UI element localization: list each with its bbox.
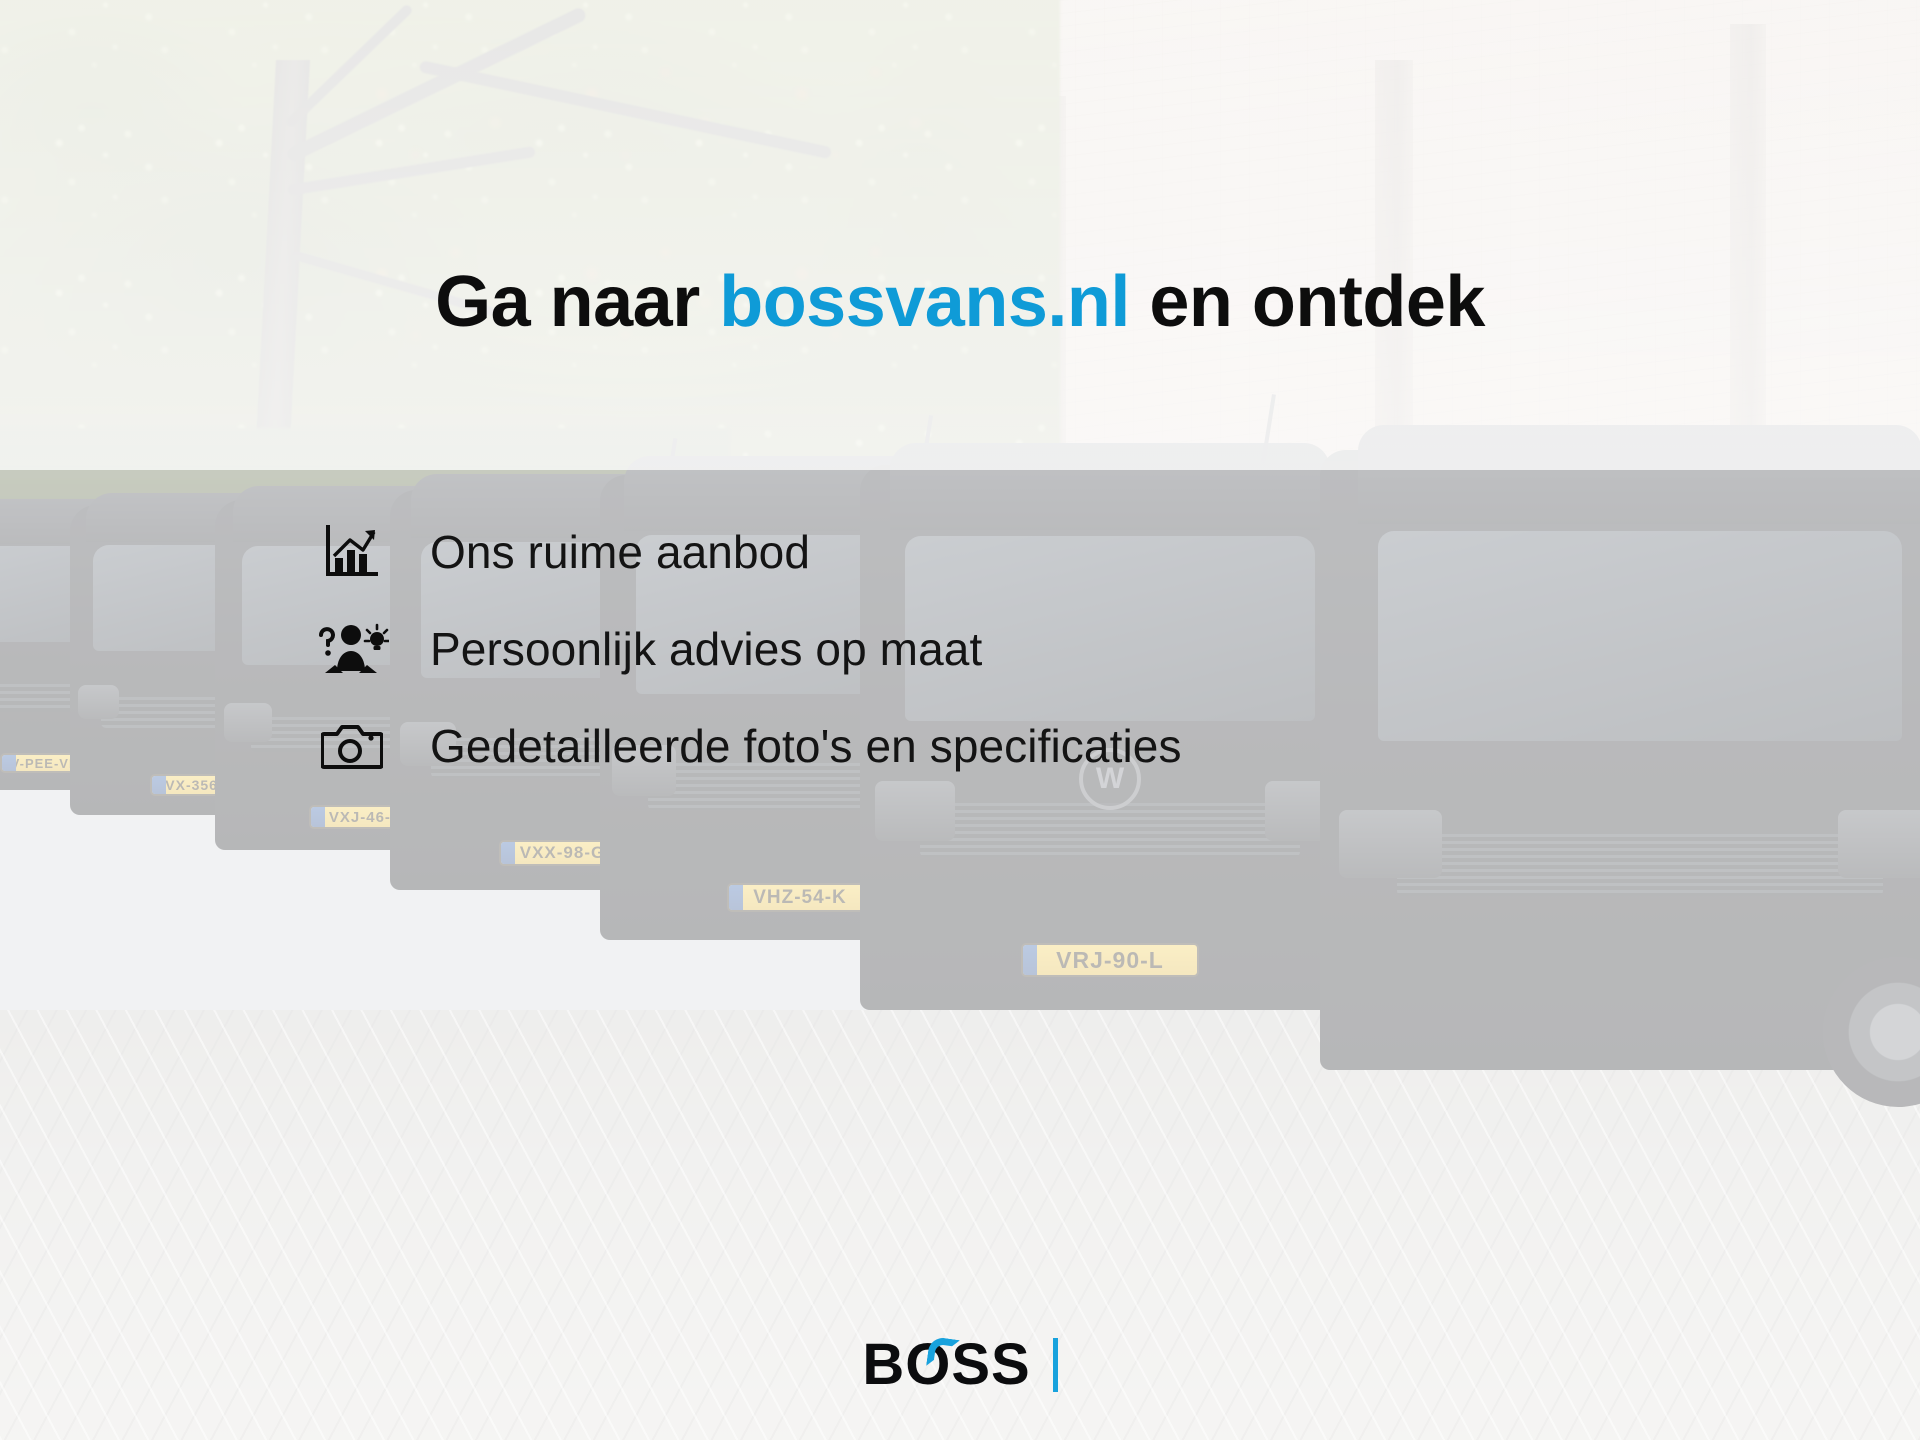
list-item: Ons ruime aanbod (306, 503, 1606, 600)
bar-chart-growth-icon (306, 524, 398, 580)
personal-advice-icon (306, 621, 398, 677)
headline-part-after: en ontdek (1130, 262, 1485, 342)
list-item: Gedetailleerde foto's en specificaties (306, 697, 1606, 794)
feature-list: Ons ruime aanbod (306, 503, 1606, 794)
logo-divider (1053, 1338, 1058, 1392)
page-title: Ga naar bossvans.nl en ontdek (0, 262, 1920, 343)
logo-boss-text: BOSS (862, 1336, 1030, 1394)
list-item-label: Gedetailleerde foto's en specificaties (398, 719, 1182, 773)
slide-content: Ga naar bossvans.nl en ontdek Ons ruime … (0, 0, 1920, 1440)
slide-root: V-PEE-VN VX-356-D VXJ-46-Z VXX-98-G (0, 0, 1920, 1440)
list-item: Persoonlijk advies op maat (306, 600, 1606, 697)
headline-brand[interactable]: bossvans.nl (719, 262, 1130, 342)
headline-part-before: Ga naar (435, 262, 719, 342)
list-item-label: Persoonlijk advies op maat (398, 622, 982, 676)
list-item-label: Ons ruime aanbod (398, 525, 810, 579)
camera-icon (306, 721, 398, 771)
brand-logo: BOSS VANS (0, 1336, 1920, 1394)
